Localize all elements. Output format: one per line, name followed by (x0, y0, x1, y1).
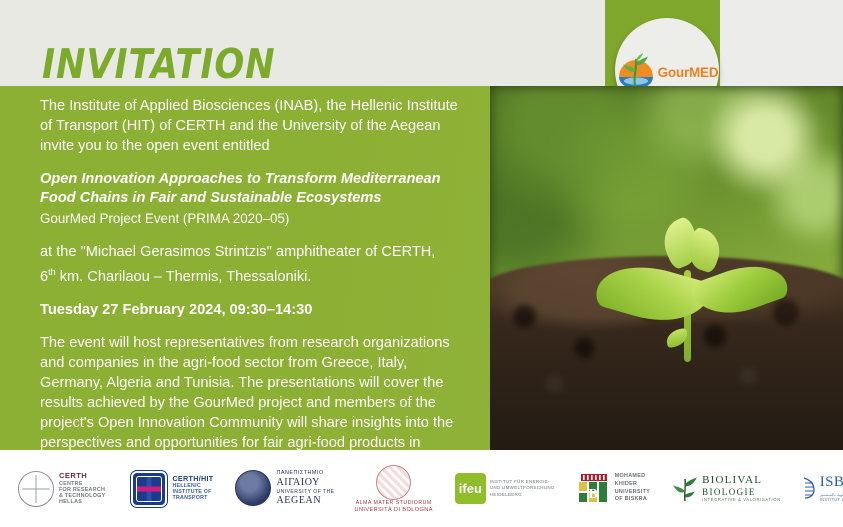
partner-logos-footer: CERTH CENTRE FOR RESEARCH & TECHNOLOGY H… (0, 450, 843, 527)
aegean-seal-icon (235, 470, 271, 506)
logo-biolival: BIOLIVAL BIOLOGIE INTÉGRATIVE & VALORISA… (672, 474, 781, 502)
invitation-poster: GourMED INVITATION The Institute of Appl… (0, 0, 843, 527)
ifeu-subtitle: INSTITUT FÜR ENERGIE- UND UMWELTFORSCHUN… (490, 479, 555, 497)
aegean-name-en-2: AEGEAN (276, 495, 334, 506)
logo-certh: CERTH CENTRE FOR RESEARCH & TECHNOLOGY H… (18, 471, 105, 507)
page-title: INVITATION (42, 40, 276, 88)
hit-arrows-icon (131, 471, 167, 507)
event-datetime: Tuesday 27 February 2024, 09:30–14:30 (40, 300, 460, 320)
top-light-band-right (720, 0, 843, 86)
venue: at the "Michael Gerasimos Strintzis" amp… (40, 242, 460, 287)
ifeu-mark-icon: ifeu (455, 473, 486, 504)
hit-subtitle: HELLENIC INSTITUTE OF TRANSPORT (172, 484, 213, 502)
isbm-mark-icon (801, 476, 817, 500)
logo-certh-hit: CERTH/HIT HELLENIC INSTITUTE OF TRANSPOR… (131, 471, 213, 507)
lead-paragraph: The Institute of Applied Biosciences (IN… (40, 96, 460, 156)
isbm-subtitle: المعهد العالي للتكنولوجيا الحيوية بالمنس… (820, 492, 843, 504)
biolival-line-1: BIOLIVAL (702, 474, 781, 486)
logo-biskra: B MOHAMED KHIDER UNIVERSITY OF BISKRA (577, 473, 650, 503)
venue-line-2-number: 6 (40, 269, 48, 285)
isbm-name: ISBM (820, 474, 843, 491)
venue-line-2-ordinal: th (48, 267, 56, 277)
aegean-name-gr-2: ΑΙΓΑΙΟΥ (276, 477, 334, 488)
hit-name: CERTH/HIT (172, 475, 213, 483)
svg-text:B: B (588, 487, 597, 502)
logo-isbm: ISBM المعهد العالي للتكنولوجيا الحيوية ب… (801, 474, 843, 504)
photo-sprout (606, 212, 806, 362)
bologna-seal-icon (376, 465, 411, 500)
biskra-emblem-icon: B (577, 474, 611, 504)
biolival-plant-icon (672, 476, 698, 502)
logo-bologna: ALMA MATER STUDIORUM UNIVERSITÀ DI BOLOG… (355, 465, 433, 513)
event-title: Open Innovation Approaches to Transform … (40, 170, 460, 208)
biskra-name: MOHAMED KHIDER UNIVERSITY OF BISKRA (615, 473, 650, 503)
venue-line-2-rest: km. Charilaou – Thermis, Thessaloniki. (56, 269, 312, 285)
logo-ifeu: ifeu INSTITUT FÜR ENERGIE- UND UMWELTFOR… (455, 473, 555, 504)
venue-line-1: at the "Michael Gerasimos Strintzis" amp… (40, 244, 435, 260)
bologna-line-1: ALMA MATER STUDIORUM (356, 500, 432, 506)
gourmed-logo-text: GourMED (658, 65, 719, 80)
biolival-line-3: INTÉGRATIVE & VALORISATION (702, 498, 781, 503)
event-subtitle: GourMed Project Event (PRIMA 2020–05) (40, 209, 460, 228)
certh-name: CERTH (59, 472, 105, 481)
certh-seal-icon (18, 471, 54, 507)
logo-aegean: ΠΑΝΕΠΙΣΤΗΜΙΟ ΑΙΓΑΙΟΥ UNIVERSITY OF THE A… (235, 470, 334, 506)
seedling-photo (490, 86, 843, 450)
biolival-line-2: BIOLOGIE (702, 487, 781, 497)
bologna-line-2: UNIVERSITÀ DI BOLOGNA (355, 507, 433, 513)
invitation-copy: The Institute of Applied Biosciences (IN… (40, 96, 460, 493)
certh-subtitle: CENTRE FOR RESEARCH & TECHNOLOGY HELLAS (59, 481, 105, 505)
